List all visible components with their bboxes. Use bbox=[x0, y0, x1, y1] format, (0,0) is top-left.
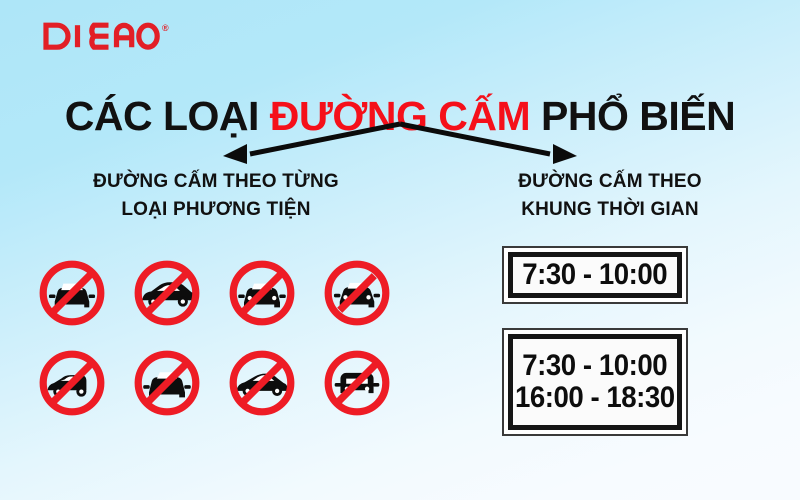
right-branch-heading: ĐƯỜNG CẤM THEO KHUNG THỜI GIAN bbox=[430, 168, 790, 223]
no-vehicle-sign bbox=[214, 338, 309, 428]
no-vehicle-sign bbox=[309, 338, 404, 428]
arrowhead-right bbox=[553, 144, 577, 164]
time-restriction-plate: 7:30 - 10:00 16:00 - 18:30 bbox=[502, 328, 688, 436]
no-van-front-icon bbox=[321, 347, 393, 419]
vehicle-prohibition-sign-grid bbox=[24, 248, 404, 428]
no-car-side-icon bbox=[131, 257, 203, 329]
time-restriction-plate: 7:30 - 10:00 bbox=[502, 246, 688, 304]
arrowhead-left bbox=[223, 144, 247, 164]
time-plate-inner-frame: 7:30 - 10:00 16:00 - 18:30 bbox=[508, 334, 682, 430]
branching-arrow-connector bbox=[195, 112, 605, 172]
time-range-text: 7:30 - 10:00 bbox=[523, 350, 668, 382]
left-branch-heading-line-2: LOẠI PHƯƠNG TIỆN bbox=[26, 196, 406, 224]
right-branch-heading-line-1: ĐƯỜNG CẤM THEO bbox=[430, 168, 790, 196]
no-vehicle-sign bbox=[119, 338, 214, 428]
registered-trademark-symbol: ® bbox=[162, 24, 169, 33]
left-branch-heading: ĐƯỜNG CẤM THEO TỪNG LOẠI PHƯƠNG TIỆN bbox=[26, 168, 406, 223]
time-range-text: 16:00 - 18:30 bbox=[515, 382, 675, 414]
no-vehicle-sign bbox=[24, 338, 119, 428]
brand-logo: ® bbox=[42, 22, 169, 56]
infographic-canvas: ® CÁC LOẠI ĐƯỜNG CẤM PHỔ BIẾN ĐƯỜNG CẤM … bbox=[0, 0, 800, 500]
no-car-front-icon bbox=[131, 347, 203, 419]
no-car-front-icon bbox=[321, 257, 393, 329]
time-plate-inner-frame: 7:30 - 10:00 bbox=[508, 252, 682, 298]
no-car-front-icon bbox=[226, 257, 298, 329]
no-vehicle-sign bbox=[24, 248, 119, 338]
no-car-side-icon bbox=[226, 347, 298, 419]
no-vehicle-sign bbox=[119, 248, 214, 338]
dibao-logo-icon bbox=[42, 22, 160, 52]
right-branch-heading-line-2: KHUNG THỜI GIAN bbox=[430, 196, 790, 224]
no-vehicle-sign bbox=[214, 248, 309, 338]
time-range-text: 7:30 - 10:00 bbox=[523, 259, 668, 291]
no-car-side-suv-icon bbox=[36, 347, 108, 419]
no-car-front-icon bbox=[36, 257, 108, 329]
left-branch-heading-line-1: ĐƯỜNG CẤM THEO TỪNG bbox=[26, 168, 406, 196]
no-vehicle-sign bbox=[309, 248, 404, 338]
